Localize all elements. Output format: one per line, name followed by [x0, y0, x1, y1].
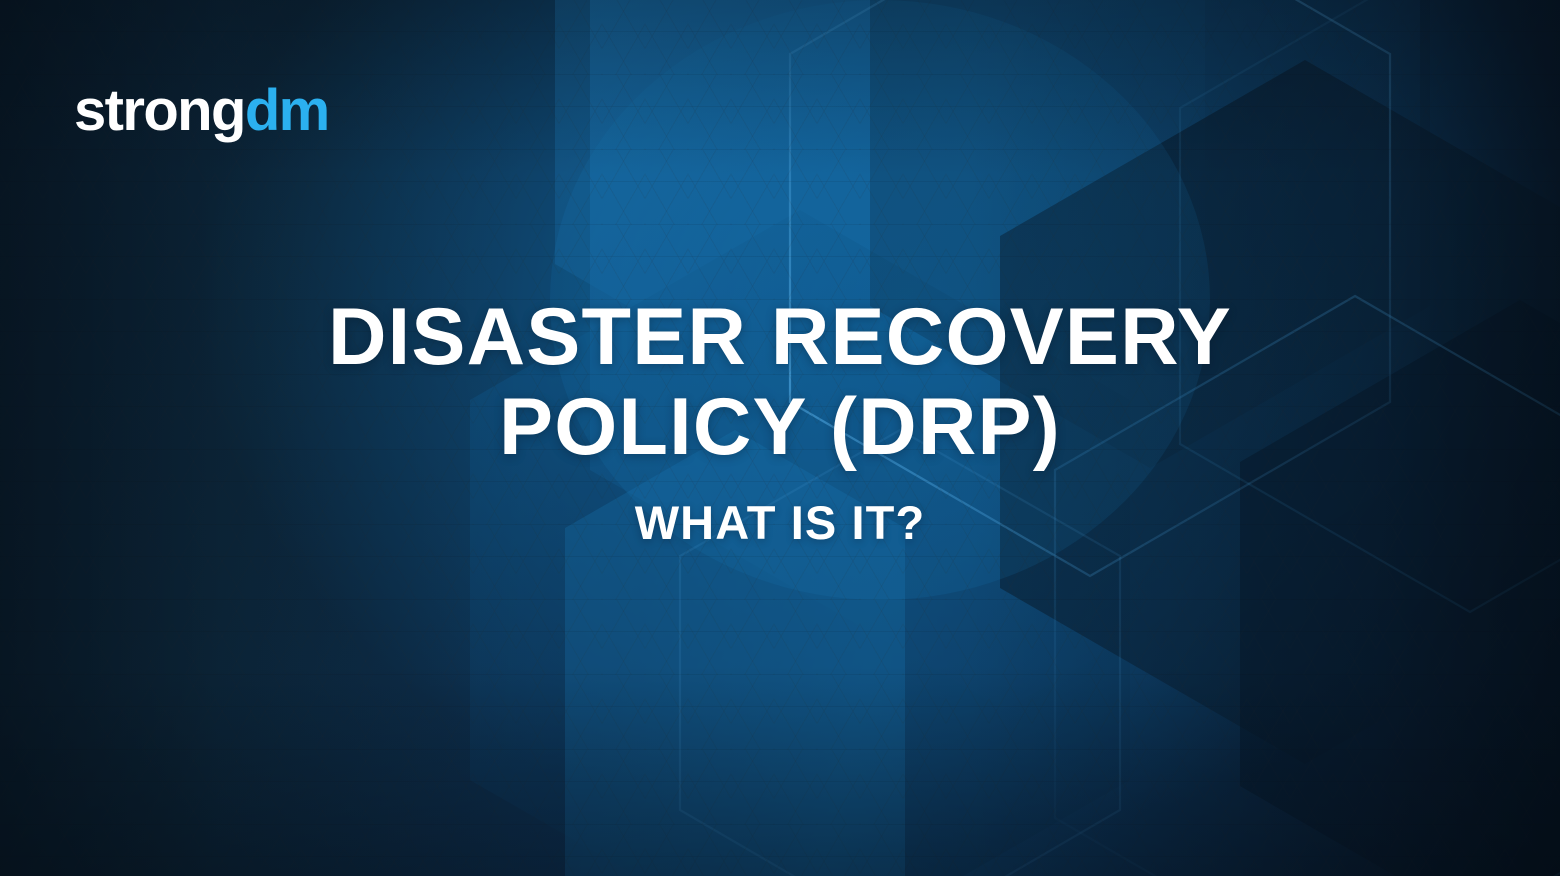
logo-text-accent: dm: [245, 78, 329, 143]
headline-block: DISASTER RECOVERY POLICY (DRP) WHAT IS I…: [0, 292, 1560, 548]
logo-text-primary: strong: [74, 78, 245, 143]
page-title: DISASTER RECOVERY POLICY (DRP): [40, 292, 1520, 473]
title-slide: strongdm DISASTER RECOVERY POLICY (DRP) …: [0, 0, 1560, 876]
strongdm-logo: strongdm: [74, 82, 329, 140]
page-subtitle: WHAT IS IT?: [40, 497, 1520, 549]
headline-line-2: POLICY (DRP): [40, 382, 1520, 472]
slide-content: strongdm DISASTER RECOVERY POLICY (DRP) …: [0, 0, 1560, 876]
headline-line-1: DISASTER RECOVERY: [40, 292, 1520, 382]
